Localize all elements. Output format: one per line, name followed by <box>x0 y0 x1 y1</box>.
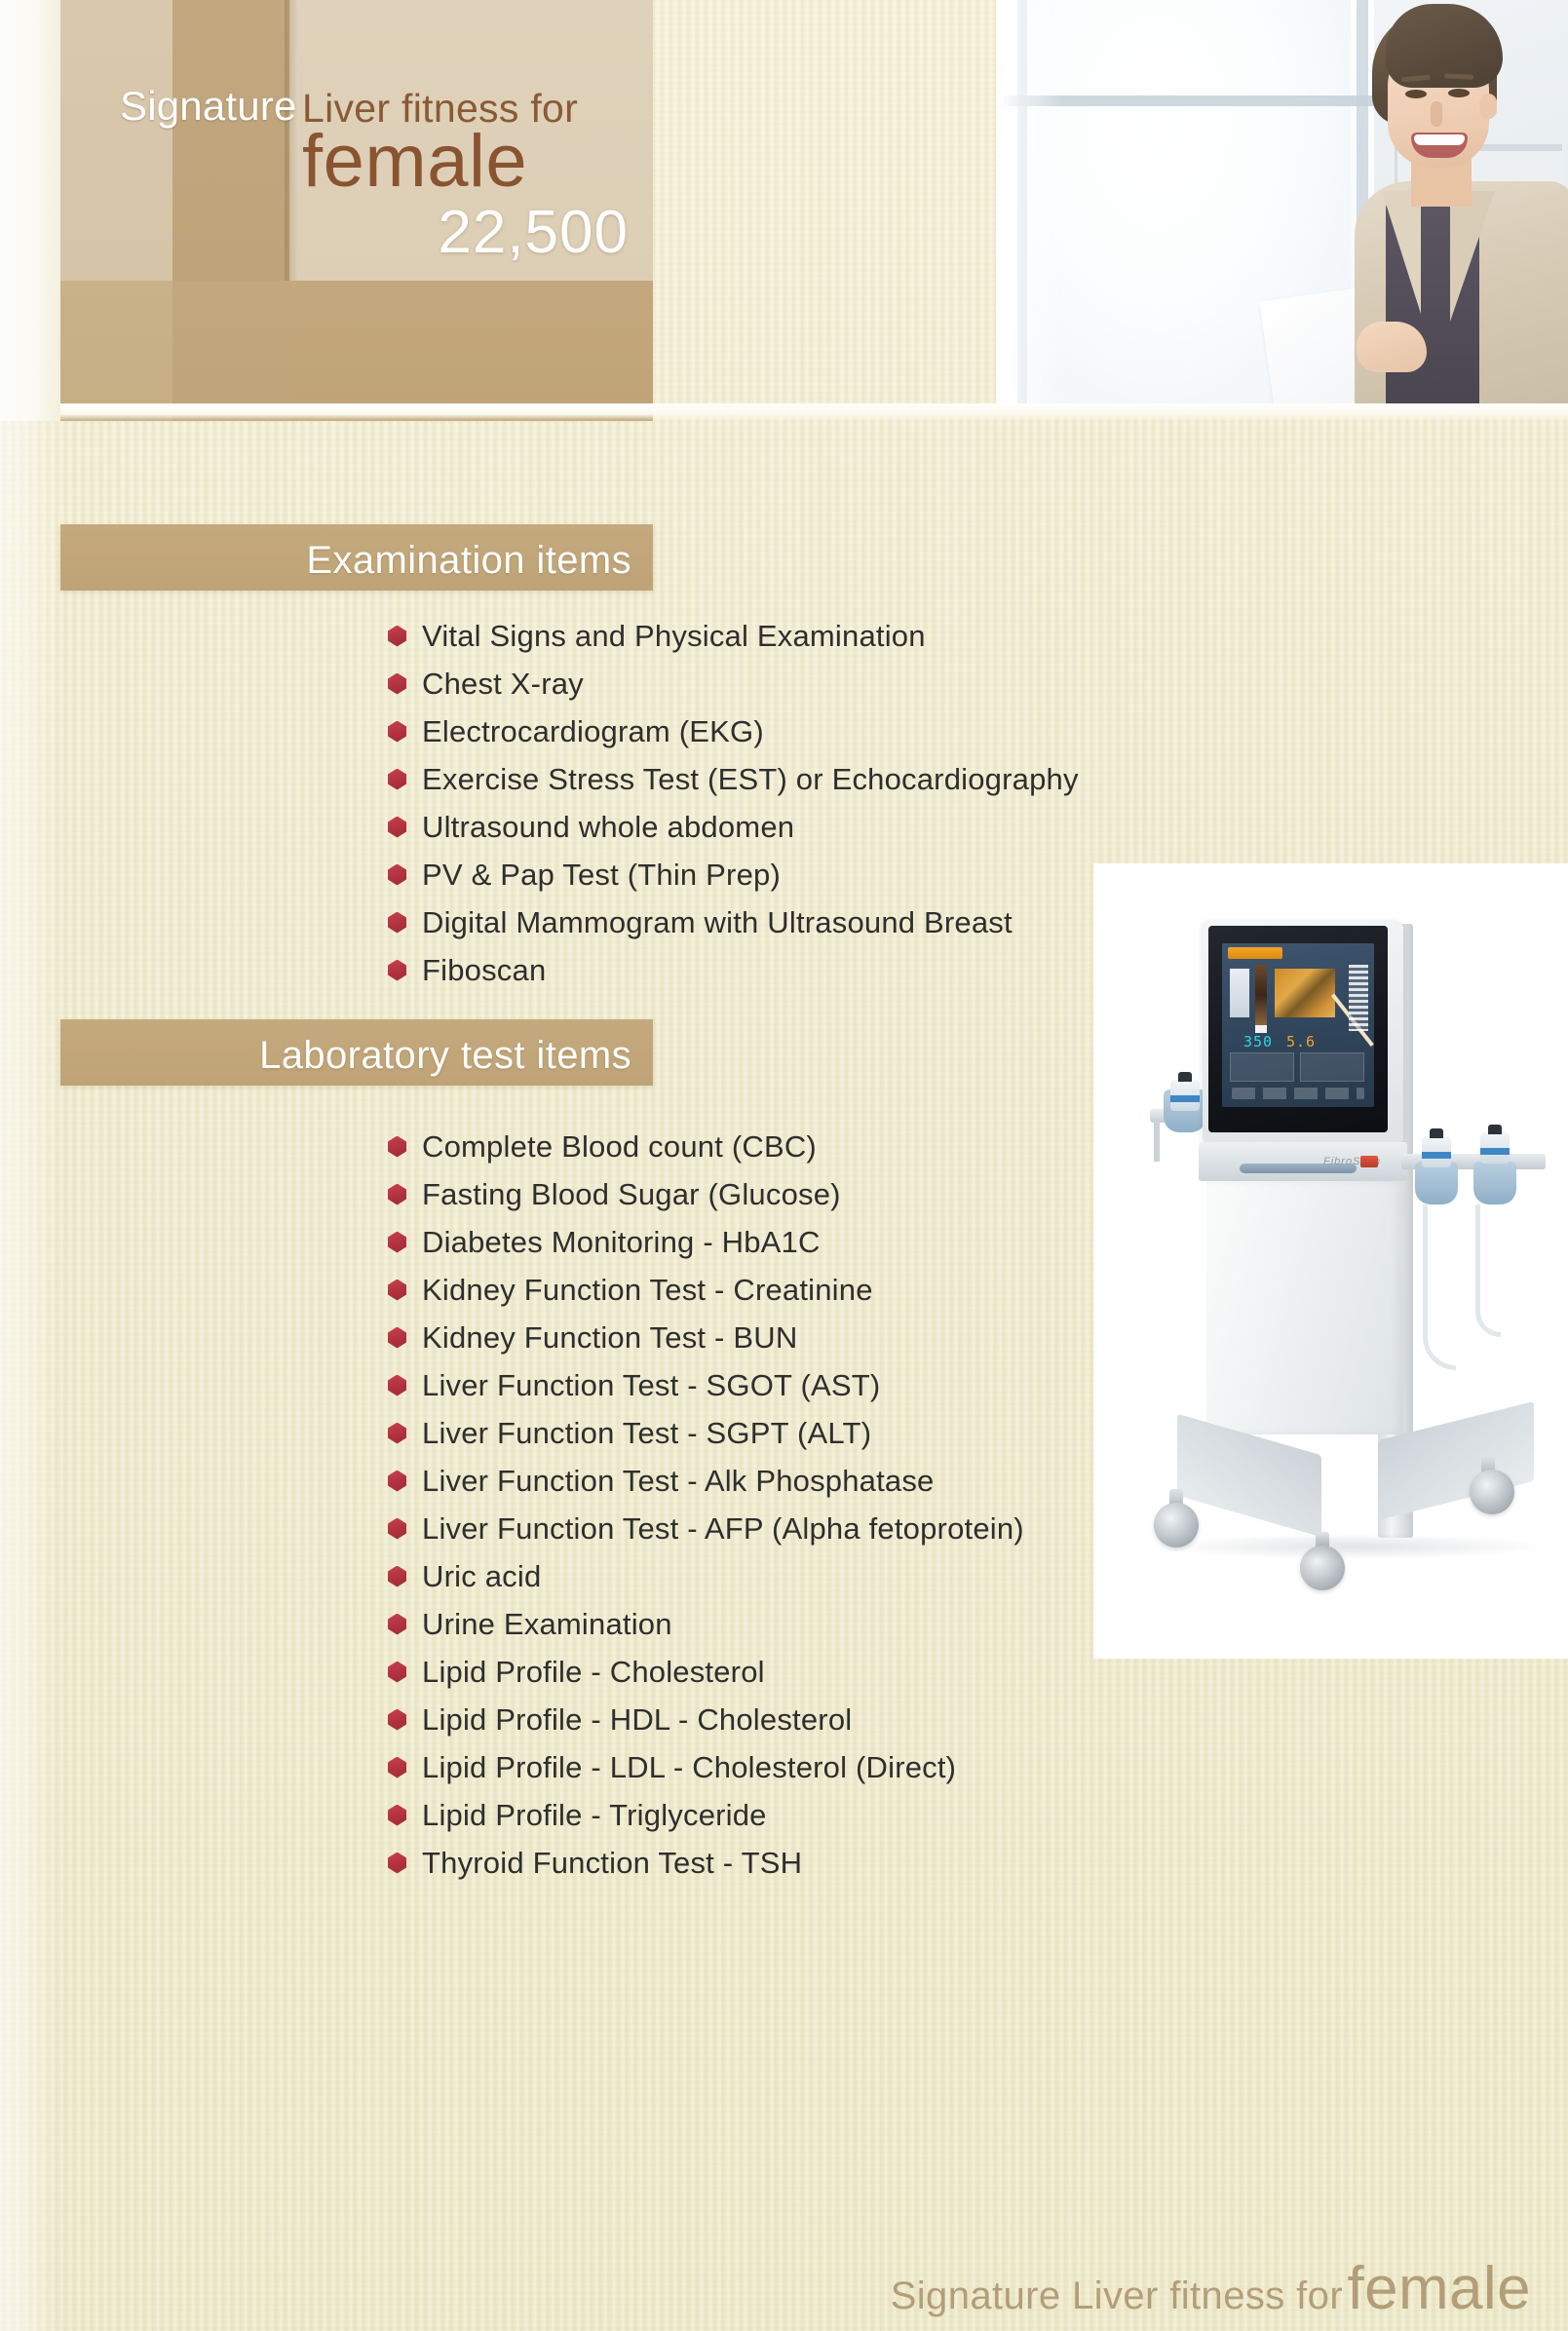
hexagon-bullet-icon <box>388 626 406 647</box>
device-cabinet <box>1206 1181 1403 1434</box>
blazer-lapel-left <box>1382 191 1421 314</box>
screen-stiffness-value: 350 <box>1243 1033 1273 1051</box>
hexagon-bullet-icon <box>388 1184 406 1205</box>
list-item-label: Lipid Profile - Triglyceride <box>422 1798 767 1833</box>
hexagon-bullet-icon <box>388 1327 406 1349</box>
device-left-tray-arm <box>1154 1119 1160 1162</box>
screen-m-mode-strip <box>1255 965 1267 1025</box>
hexagon-bullet-icon <box>388 864 406 886</box>
footer-small-text: Signature Liver fitness for <box>891 2274 1343 2317</box>
hexagon-bullet-icon <box>388 1614 406 1635</box>
signature-badge: Signature <box>120 83 297 130</box>
list-item: Fasting Blood Sugar (Glucose) <box>388 1170 1024 1218</box>
list-item-label: Electrocardiogram (EKG) <box>422 714 764 749</box>
examination-items-list: Vital Signs and Physical Examination Che… <box>388 612 1079 994</box>
probe-cap <box>1488 1125 1502 1134</box>
list-item-label: Liver Function Test - SGPT (ALT) <box>422 1416 871 1451</box>
screen-elasticity-value: 5.6 <box>1286 1033 1316 1051</box>
list-item-label: Liver Function Test - AFP (Alpha fetopro… <box>422 1511 1024 1547</box>
smiling-mouth <box>1411 133 1468 158</box>
nose <box>1431 101 1442 127</box>
list-item: Kidney Function Test - BUN <box>388 1314 1024 1361</box>
list-item: Liver Function Test - Alk Phosphatase <box>388 1457 1024 1505</box>
list-item: Electrocardiogram (EKG) <box>388 707 1079 755</box>
photo-left-fade <box>996 0 1064 407</box>
list-item: Exercise Stress Test (EST) or Echocardio… <box>388 755 1079 803</box>
list-item: Digital Mammogram with Ultrasound Breast <box>388 898 1079 946</box>
screen-graph-right <box>1300 1052 1364 1082</box>
probe-holder-right-a <box>1415 1162 1458 1204</box>
list-item-label: Complete Blood count (CBC) <box>422 1129 817 1165</box>
header-block-light <box>60 0 172 281</box>
hexagon-bullet-icon <box>388 769 406 790</box>
screen-scale-ladder <box>1349 965 1368 1031</box>
list-item-label: Fasting Blood Sugar (Glucose) <box>422 1177 841 1212</box>
fibroscan-device-photo: 350 5.6 FibroScan <box>1093 863 1568 1659</box>
woman-figure <box>1240 0 1568 407</box>
hexagon-bullet-icon <box>388 960 406 981</box>
list-item: Liver Function Test - SGPT (ALT) <box>388 1409 1024 1457</box>
list-item: Lipid Profile - Triglyceride <box>388 1791 1024 1839</box>
hexagon-bullet-icon <box>388 1471 406 1492</box>
list-item-label: Diabetes Monitoring - HbA1C <box>422 1225 821 1260</box>
list-item: Ultrasound whole abdomen <box>388 803 1079 851</box>
caster-wheel-rear-right <box>1470 1470 1514 1514</box>
blazer-lapel-right <box>1450 191 1495 322</box>
hexagon-bullet-icon <box>388 1423 406 1444</box>
hexagon-bullet-icon <box>388 1232 406 1253</box>
probe-holder-right-b <box>1473 1162 1516 1204</box>
hexagon-bullet-icon <box>388 1662 406 1683</box>
hexagon-bullet-icon <box>388 1280 406 1301</box>
probe-blue-band <box>1170 1095 1200 1102</box>
list-item-label: Chest X-ray <box>422 667 584 702</box>
paper-left-edge <box>0 0 60 421</box>
device-screen: 350 5.6 <box>1222 943 1374 1107</box>
list-item-label: Lipid Profile - HDL - Cholesterol <box>422 1702 852 1738</box>
screen-side-panel <box>1230 969 1249 1017</box>
hexagon-bullet-icon <box>388 817 406 838</box>
section-title-examination: Examination items <box>306 539 631 583</box>
list-item-label: Liver Function Test - Alk Phosphatase <box>422 1464 935 1499</box>
laboratory-items-list: Complete Blood count (CBC) Fasting Blood… <box>388 1123 1024 1887</box>
hexagon-bullet-icon <box>388 721 406 743</box>
list-item: Fiboscan <box>388 946 1079 994</box>
hero-photo-businesswoman <box>996 0 1568 407</box>
list-item-label: Kidney Function Test - BUN <box>422 1320 797 1356</box>
list-item: Diabetes Monitoring - HbA1C <box>388 1218 1024 1266</box>
list-item: Urine Examination <box>388 1600 1024 1648</box>
package-price: 22,500 <box>292 198 629 267</box>
list-item-label: Ultrasound whole abdomen <box>422 810 794 845</box>
hand <box>1357 322 1427 372</box>
list-item-label: Exercise Stress Test (EST) or Echocardio… <box>422 762 1079 797</box>
header-banner: Signature Liver fitness for female 22,50… <box>0 0 1568 421</box>
probe-blue-band <box>1480 1148 1510 1155</box>
list-item: Liver Function Test - AFP (Alpha fetopro… <box>388 1505 1024 1552</box>
list-item: PV & Pap Test (Thin Prep) <box>388 851 1079 898</box>
header-block-mid <box>172 0 289 281</box>
probe-cable-b <box>1475 1204 1501 1337</box>
header-lower-mid-col <box>172 281 289 421</box>
footer-big-text: female <box>1348 2255 1532 2322</box>
hexagon-bullet-icon <box>388 1805 406 1826</box>
package-title: female <box>302 125 527 199</box>
list-item: Chest X-ray <box>388 660 1079 707</box>
list-item-label: Digital Mammogram with Ultrasound Breast <box>422 905 1013 940</box>
list-item: Lipid Profile - Cholesterol <box>388 1648 1024 1696</box>
section-header-examination: Examination items <box>60 524 653 591</box>
screen-orange-titlebar <box>1228 947 1282 959</box>
list-item-label: Uric acid <box>422 1559 541 1594</box>
screen-graph-left <box>1230 1052 1294 1082</box>
probe-cap <box>1430 1128 1443 1138</box>
hexagon-bullet-icon <box>388 1757 406 1778</box>
header-separator <box>60 403 1568 421</box>
probe-cable-a <box>1423 1204 1456 1370</box>
list-item: Liver Function Test - SGOT (AST) <box>388 1361 1024 1409</box>
device-floor-shadow <box>1162 1534 1544 1559</box>
list-item: Lipid Profile - LDL - Cholesterol (Direc… <box>388 1743 1024 1791</box>
list-item: Thyroid Function Test - TSH <box>388 1839 1024 1887</box>
footer: Signature Liver fitness for female <box>0 2254 1568 2323</box>
list-item-label: Kidney Function Test - Creatinine <box>422 1273 873 1308</box>
hexagon-bullet-icon <box>388 1136 406 1158</box>
hexagon-bullet-icon <box>388 1566 406 1587</box>
probe-cap <box>1178 1072 1192 1082</box>
header-lower-left-col <box>60 281 172 421</box>
list-item-label: PV & Pap Test (Thin Prep) <box>422 858 781 893</box>
list-item-label: Lipid Profile - LDL - Cholesterol (Direc… <box>422 1750 956 1785</box>
screen-ultrasound-image <box>1275 969 1335 1017</box>
list-item: Lipid Profile - HDL - Cholesterol <box>388 1696 1024 1743</box>
section-title-laboratory: Laboratory test items <box>259 1034 631 1078</box>
list-item: Complete Blood count (CBC) <box>388 1123 1024 1170</box>
hexagon-bullet-icon <box>388 1853 406 1874</box>
teeth <box>1414 134 1465 145</box>
hexagon-bullet-icon <box>388 673 406 695</box>
list-item-label: Lipid Profile - Cholesterol <box>422 1655 765 1690</box>
device-brand-mark-icon <box>1360 1156 1378 1167</box>
list-item: Kidney Function Test - Creatinine <box>388 1266 1024 1314</box>
eye-right <box>1448 89 1470 97</box>
screen-strip-marker <box>1255 1025 1267 1033</box>
list-item-label: Urine Examination <box>422 1607 672 1642</box>
list-item-label: Fiboscan <box>422 953 546 988</box>
list-item: Uric acid <box>388 1552 1024 1600</box>
screen-button-row <box>1232 1088 1364 1099</box>
hexagon-bullet-icon <box>388 912 406 934</box>
list-item: Vital Signs and Physical Examination <box>388 612 1079 660</box>
hexagon-bullet-icon <box>388 1375 406 1396</box>
eye-left <box>1405 90 1427 98</box>
hexagon-bullet-icon <box>388 1709 406 1731</box>
hexagon-bullet-icon <box>388 1518 406 1540</box>
list-item-label: Thyroid Function Test - TSH <box>422 1846 802 1881</box>
list-item-label: Liver Function Test - SGOT (AST) <box>422 1368 880 1403</box>
ear <box>1479 94 1497 119</box>
probe-blue-band <box>1422 1152 1451 1159</box>
section-header-laboratory: Laboratory test items <box>60 1019 653 1086</box>
list-item-label: Vital Signs and Physical Examination <box>422 619 926 654</box>
